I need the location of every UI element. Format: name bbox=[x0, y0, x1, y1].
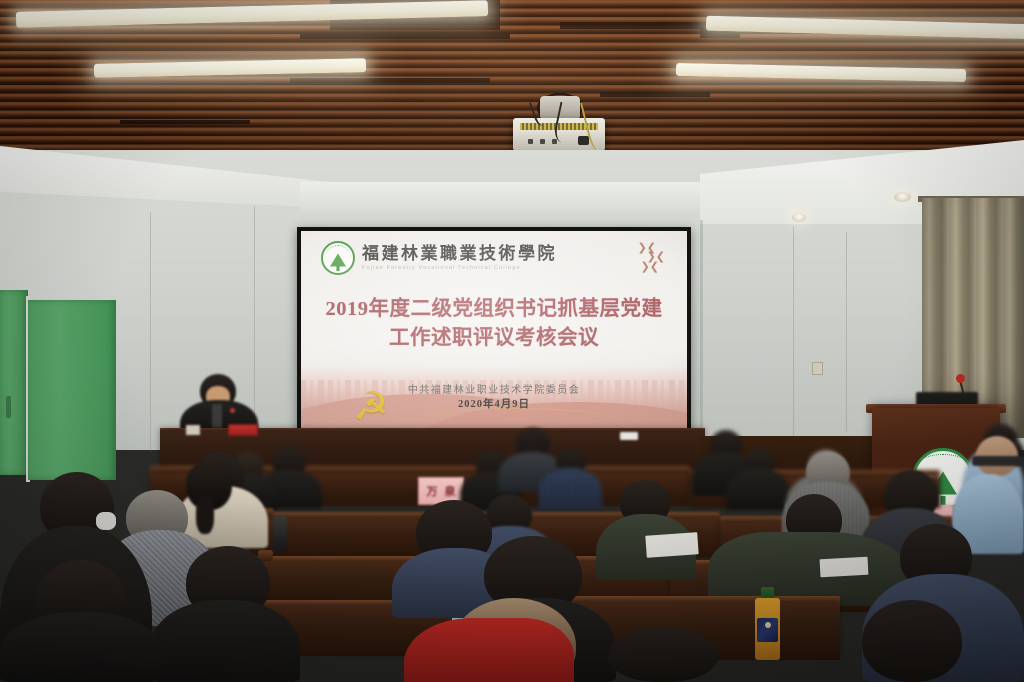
wall-outlet bbox=[812, 362, 823, 375]
desk-paper bbox=[620, 432, 638, 440]
person-body bbox=[726, 468, 790, 510]
eyeglasses bbox=[972, 456, 1024, 466]
conference-hall-photo: 福建林業職業技術學院 Fujian Forestry Vocational Te… bbox=[0, 0, 1024, 682]
microphone-red-icon bbox=[956, 374, 965, 383]
recessed-downlight bbox=[894, 192, 911, 202]
person-body-red-jacket bbox=[404, 618, 574, 682]
projector-button bbox=[552, 139, 557, 144]
person-body bbox=[538, 468, 602, 510]
head-table-cup bbox=[186, 425, 200, 435]
door-left-outer[interactable] bbox=[0, 290, 28, 475]
ceiling-soffit-center bbox=[300, 182, 720, 212]
projector-button bbox=[528, 139, 533, 144]
documents-on-desk bbox=[820, 557, 869, 577]
person-body bbox=[0, 612, 162, 682]
person-head bbox=[608, 628, 718, 682]
face-mask bbox=[96, 512, 116, 530]
placard-char-2: 泉 bbox=[445, 483, 456, 499]
documents-on-desk bbox=[645, 532, 698, 558]
slide-organization: 中共福建林业职业技术学院委员会 bbox=[301, 381, 687, 396]
wall-panel-seam bbox=[793, 226, 794, 441]
travel-mug-dark bbox=[273, 516, 287, 552]
projector-lens bbox=[578, 136, 589, 145]
wall-panel-seam bbox=[150, 212, 151, 452]
slide-title-line-2: 工作述职评议考核会议 bbox=[301, 324, 687, 353]
person-shirt bbox=[212, 404, 222, 428]
flying-birds-icon: ❯❮❯❮❯❮ bbox=[638, 243, 665, 273]
tea-bottle-label-icon bbox=[765, 622, 771, 628]
school-name-cn: 福建林業職業技術學院 bbox=[362, 245, 557, 263]
lapel-pin bbox=[230, 408, 235, 413]
school-tree-emblem-icon bbox=[321, 241, 355, 275]
school-name-en: Fujian Forestry Vocational Technical Col… bbox=[362, 265, 557, 271]
recessed-downlight bbox=[792, 213, 806, 222]
school-name-block: 福建林業職業技術學院 Fujian Forestry Vocational Te… bbox=[362, 245, 557, 271]
slide-date: 2020年4月9日 bbox=[301, 396, 687, 411]
person-body-arm-extended bbox=[708, 532, 908, 606]
slide-header: 福建林業職業技術學院 Fujian Forestry Vocational Te… bbox=[321, 241, 557, 275]
head-table-name-placard bbox=[228, 424, 258, 436]
projection-screen: 福建林業職業技術學院 Fujian Forestry Vocational Te… bbox=[301, 231, 687, 436]
wall-panel-seam bbox=[846, 232, 847, 432]
door-left-inner[interactable] bbox=[28, 300, 116, 480]
logo-arc bbox=[325, 245, 351, 271]
slide-title: 2019年度二级党组织书记抓基层党建 工作述职评议考核会议 bbox=[301, 295, 687, 353]
person-head bbox=[862, 600, 962, 682]
person-body bbox=[150, 600, 300, 682]
ponytail bbox=[196, 496, 214, 534]
projector-button bbox=[540, 139, 545, 144]
door-handle[interactable] bbox=[6, 396, 11, 418]
wall-panel-seam bbox=[700, 220, 703, 445]
slide-title-line-1: 2019年度二级党组织书记抓基层党建 bbox=[301, 295, 687, 324]
placard-char-1: 万 bbox=[427, 483, 438, 499]
